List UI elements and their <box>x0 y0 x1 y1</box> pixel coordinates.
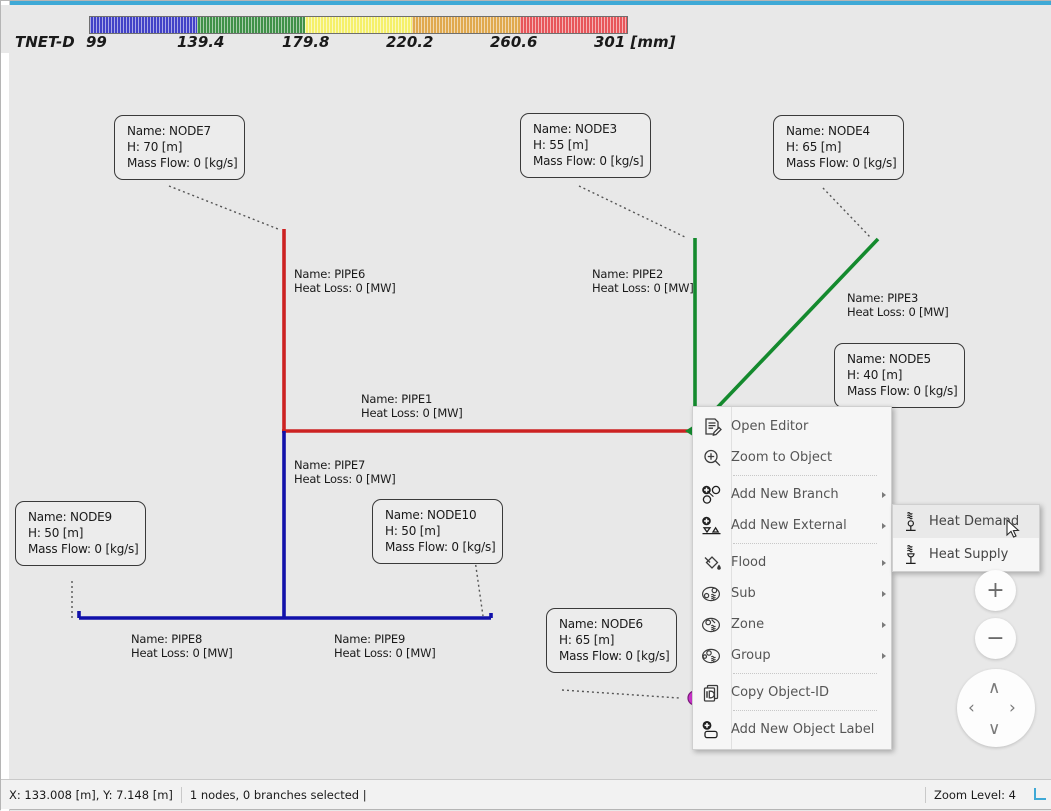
pipe-label-pipe3[interactable]: Name: PIPE3 Heat Loss: 0 [MW] <box>847 291 949 319</box>
context-menu-item-add-new-object-label[interactable]: Add New Object Label <box>693 714 891 745</box>
node7-head: H: 70 [m] <box>127 139 234 155</box>
context-menu-separator-2 <box>733 543 877 545</box>
legend-tick-0: 99 <box>86 33 107 51</box>
status-selection: 1 nodes, 0 branches selected | <box>182 788 375 802</box>
context-menu-item-group[interactable]: Group <box>693 640 891 671</box>
leader-node3 <box>579 186 687 238</box>
pan-control[interactable]: ∧ ∨ ‹ › <box>957 669 1035 747</box>
legend-segment-5 <box>520 17 627 33</box>
flood-icon <box>693 547 731 578</box>
status-right-group: Zoom Level: 4 <box>925 787 1051 803</box>
context-menu[interactable]: Open Editor Zoom to Object <box>692 406 892 750</box>
add-label-icon <box>693 714 731 745</box>
context-menu-label-group: Group <box>731 648 877 663</box>
node-info-box-node5[interactable]: Name: NODE5 H: 40 [m] Mass Flow: 0 [kg/s… <box>834 343 965 408</box>
legend-labels: TNET-D 99 139.4 179.8 220.2 260.6 301 [m… <box>1 33 1051 55</box>
node6-name: Name: NODE6 <box>559 616 666 632</box>
pipe1-name: Name: PIPE1 <box>361 392 463 406</box>
node3-flow: Mass Flow: 0 [kg/s] <box>533 153 640 169</box>
node6-flow: Mass Flow: 0 [kg/s] <box>559 648 666 664</box>
pipe3-name: Name: PIPE3 <box>847 291 949 305</box>
pipe9-loss: Heat Loss: 0 [MW] <box>334 646 436 660</box>
pipe1-loss: Heat Loss: 0 [MW] <box>361 406 463 420</box>
context-menu-label-sub: Sub <box>731 586 877 601</box>
sub-icon <box>693 578 731 609</box>
node10-name: Name: NODE10 <box>385 507 492 523</box>
context-menu-label-zone: Zone <box>731 617 877 632</box>
leader-node10 <box>475 560 483 616</box>
legend-tick-4: 260.6 <box>490 33 537 51</box>
context-menu-separator-1 <box>733 475 877 477</box>
node6-head: H: 65 [m] <box>559 632 666 648</box>
node10-flow: Mass Flow: 0 [kg/s] <box>385 539 492 555</box>
context-menu-arrow-zone <box>877 622 891 628</box>
legend-tick-3: 220.2 <box>386 33 433 51</box>
zoom-in-label: + <box>986 578 1004 603</box>
zoom-out-button[interactable]: − <box>975 618 1016 659</box>
node-info-box-node9[interactable]: Name: NODE9 H: 50 [m] Mass Flow: 0 [kg/s… <box>15 501 146 566</box>
context-menu-item-zoom-to-object[interactable]: Zoom to Object <box>693 442 891 473</box>
status-zoom-level: Zoom Level: 4 <box>926 788 1024 802</box>
node-info-box-node4[interactable]: Name: NODE4 H: 65 [m] Mass Flow: 0 [kg/s… <box>773 115 904 180</box>
node5-flow: Mass Flow: 0 [kg/s] <box>847 383 954 399</box>
context-menu-separator-4 <box>733 710 877 712</box>
context-menu-item-copy-object-id[interactable]: Copy Object-ID <box>693 677 891 708</box>
editor-icon <box>693 411 731 442</box>
submenu-label-heat-demand: Heat Demand <box>929 514 1039 529</box>
context-menu-label-open-editor: Open Editor <box>731 419 877 434</box>
zoom-in-button[interactable]: + <box>975 570 1016 611</box>
context-menu-item-flood[interactable]: Flood <box>693 547 891 578</box>
context-menu-separator-3 <box>733 673 877 675</box>
pipe9-name: Name: PIPE9 <box>334 632 436 646</box>
legend-segment-3 <box>305 17 412 33</box>
node9-name: Name: NODE9 <box>28 509 135 525</box>
pipe2-loss: Heat Loss: 0 [MW] <box>592 281 694 295</box>
context-menu-item-add-new-branch[interactable]: Add New Branch <box>693 479 891 510</box>
legend-segment-4 <box>412 17 519 33</box>
pipe-label-pipe7[interactable]: Name: PIPE7 Heat Loss: 0 [MW] <box>294 458 396 486</box>
network-canvas[interactable]: Name: NODE7 H: 70 [m] Mass Flow: 0 [kg/s… <box>9 53 1051 779</box>
node-info-box-node3[interactable]: Name: NODE3 H: 55 [m] Mass Flow: 0 [kg/s… <box>520 113 651 178</box>
add-branch-icon <box>693 479 731 510</box>
zoom-out-label: − <box>986 626 1004 651</box>
group-icon <box>693 640 731 671</box>
node-info-box-node7[interactable]: Name: NODE7 H: 70 [m] Mass Flow: 0 [kg/s… <box>114 115 245 180</box>
context-menu-label-zoom-to-object: Zoom to Object <box>731 450 877 465</box>
node5-head: H: 40 [m] <box>847 367 954 383</box>
legend-tick-1: 139.4 <box>177 33 224 51</box>
leader-node4 <box>823 188 871 238</box>
pipe8-loss: Heat Loss: 0 [MW] <box>131 646 233 660</box>
pan-left-icon[interactable]: ‹ <box>968 700 975 717</box>
node7-name: Name: NODE7 <box>127 123 234 139</box>
node-info-box-node6[interactable]: Name: NODE6 H: 65 [m] Mass Flow: 0 [kg/s… <box>546 608 677 673</box>
context-menu-label-add-new-external: Add New External <box>731 518 877 533</box>
context-menu-arrow-flood <box>877 560 891 566</box>
copy-id-icon <box>693 677 731 708</box>
pipe8-name: Name: PIPE8 <box>131 632 233 646</box>
pipe-label-pipe8[interactable]: Name: PIPE8 Heat Loss: 0 [MW] <box>131 632 233 660</box>
resize-grip-icon[interactable] <box>1032 788 1046 802</box>
zoom-to-object-icon <box>693 442 731 473</box>
mouse-cursor <box>1006 519 1020 539</box>
pipe6-loss: Heat Loss: 0 [MW] <box>294 281 396 295</box>
submenu-label-heat-supply: Heat Supply <box>929 547 1039 562</box>
node4-flow: Mass Flow: 0 [kg/s] <box>786 155 893 171</box>
node3-name: Name: NODE3 <box>533 121 640 137</box>
pipe7-loss: Heat Loss: 0 [MW] <box>294 472 396 486</box>
legend-tick-5: 301 [mm] <box>594 33 676 51</box>
context-menu-label-flood: Flood <box>731 555 877 570</box>
context-menu-item-sub[interactable]: Sub <box>693 578 891 609</box>
heat-demand-icon <box>893 505 929 538</box>
node-info-box-node10[interactable]: Name: NODE10 H: 50 [m] Mass Flow: 0 [kg/… <box>372 499 503 564</box>
pipe-label-pipe6[interactable]: Name: PIPE6 Heat Loss: 0 [MW] <box>294 267 396 295</box>
context-menu-item-open-editor[interactable]: Open Editor <box>693 411 891 442</box>
context-menu-item-add-new-external[interactable]: Add New External <box>693 510 891 541</box>
legend-title: TNET-D <box>15 33 75 51</box>
pipe7-name: Name: PIPE7 <box>294 458 396 472</box>
legend-color-bar <box>89 16 628 34</box>
pipe-label-pipe1[interactable]: Name: PIPE1 Heat Loss: 0 [MW] <box>361 392 463 420</box>
pipe-label-pipe9[interactable]: Name: PIPE9 Heat Loss: 0 [MW] <box>334 632 436 660</box>
context-menu-arrow-group <box>877 653 891 659</box>
zone-icon <box>693 609 731 640</box>
context-menu-label-add-new-object-label: Add New Object Label <box>731 722 877 737</box>
context-menu-label-add-new-branch: Add New Branch <box>731 487 877 502</box>
submenu-item-heat-supply[interactable]: Heat Supply <box>893 538 1039 571</box>
pan-up-icon[interactable]: ∧ <box>988 680 1000 697</box>
application-window: ↙ TNET-D 99 139.4 179.8 220.2 260.6 301 … <box>0 0 1051 810</box>
pan-down-icon[interactable]: ∨ <box>988 721 1000 738</box>
legend-panel: TNET-D 99 139.4 179.8 220.2 260.6 301 [m… <box>1 5 1051 53</box>
context-menu-item-zone[interactable]: Zone <box>693 609 891 640</box>
heat-supply-icon <box>893 538 929 571</box>
pipe2-name: Name: PIPE2 <box>592 267 694 281</box>
context-menu-arrow-sub <box>877 591 891 597</box>
status-bar: X: 133.008 [m], Y: 7.148 [m] 1 nodes, 0 … <box>1 779 1051 809</box>
context-menu-label-copy-object-id: Copy Object-ID <box>731 685 877 700</box>
add-external-icon <box>693 510 731 541</box>
legend-tick-2: 179.8 <box>282 33 329 51</box>
pan-right-icon[interactable]: › <box>1009 700 1016 717</box>
node7-flow: Mass Flow: 0 [kg/s] <box>127 155 234 171</box>
legend-segment-1 <box>90 17 197 33</box>
leader-node6 <box>562 690 679 698</box>
status-coordinates: X: 133.008 [m], Y: 7.148 [m] <box>1 788 181 802</box>
context-menu-arrow-add-new-external <box>877 523 891 529</box>
context-menu-arrow-add-new-branch <box>877 492 891 498</box>
legend-segment-2 <box>197 17 304 33</box>
node9-head: H: 50 [m] <box>28 525 135 541</box>
leader-node7 <box>169 186 278 229</box>
node10-head: H: 50 [m] <box>385 523 492 539</box>
node9-flow: Mass Flow: 0 [kg/s] <box>28 541 135 557</box>
node3-head: H: 55 [m] <box>533 137 640 153</box>
node4-head: H: 65 [m] <box>786 139 893 155</box>
node5-name: Name: NODE5 <box>847 351 954 367</box>
pipe6-name: Name: PIPE6 <box>294 267 396 281</box>
node4-name: Name: NODE4 <box>786 123 893 139</box>
pipe-label-pipe2[interactable]: Name: PIPE2 Heat Loss: 0 [MW] <box>592 267 694 295</box>
pipe3-loss: Heat Loss: 0 [MW] <box>847 305 949 319</box>
